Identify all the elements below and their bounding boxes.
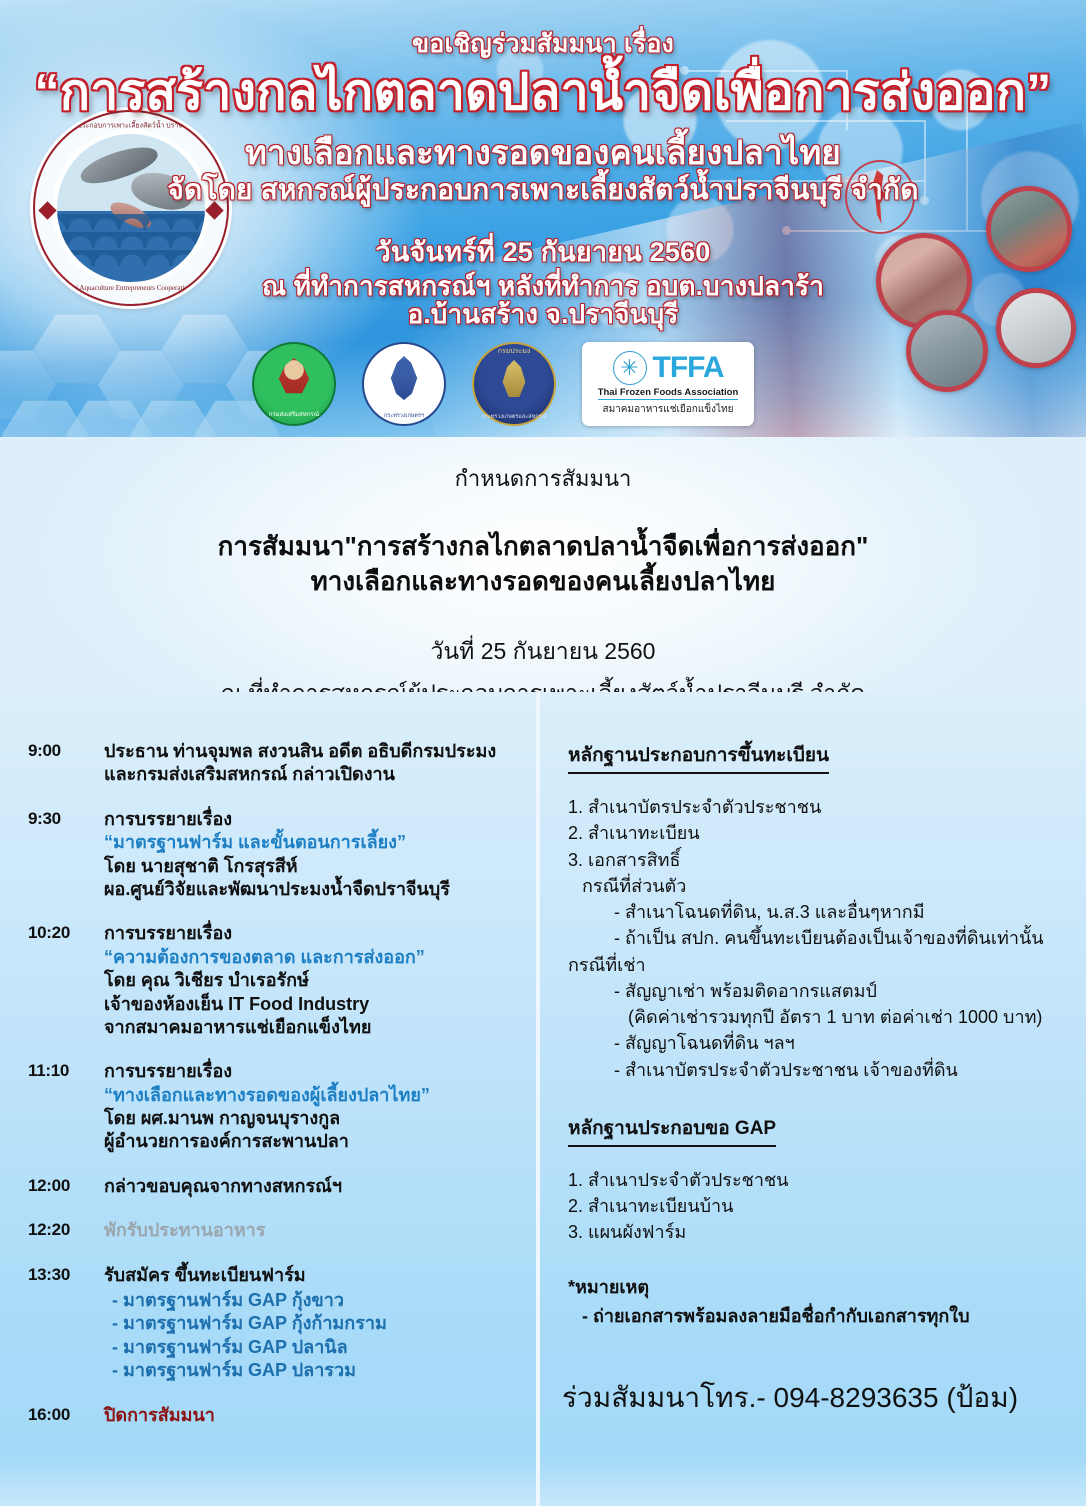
gap-item: 2. สำเนาทะเบียนบ้าน bbox=[568, 1193, 1068, 1219]
schedule-detail: การบรรยายเรื่อง“มาตรฐานฟาร์ม และขั้นตอนก… bbox=[104, 808, 522, 902]
schedule-line: และกรมส่งเสริมสหกรณ์ กล่าวเปิดงาน bbox=[104, 763, 522, 786]
gap-item: 1. สำเนาประจำตัวประชาชน bbox=[568, 1167, 1068, 1193]
partner-logos-row: กรมส่งเสริมสหกรณ์ กระทรวงเกษตรฯ กรมประมง… bbox=[252, 336, 872, 432]
poster-content: 9:00ประธาน ท่านจุมพล สงวนสิน อดีต อธิบดี… bbox=[0, 692, 1086, 1506]
schedule-line: การบรรยายเรื่อง bbox=[104, 808, 522, 831]
schedule-line: โดย นายสุชาติ โกรสุรสีห์ bbox=[104, 855, 522, 878]
note-title: *หมายเหตุ bbox=[568, 1272, 1068, 1301]
schedule-detail: ประธาน ท่านจุมพล สงวนสิน อดีต อธิบดีกรมป… bbox=[104, 740, 522, 787]
ministry-logo-caption: กระทรวงเกษตรฯ bbox=[364, 413, 444, 419]
snowflake-icon bbox=[613, 351, 647, 385]
schedule-line: รับสมัคร ขึ้นทะเบียนฟาร์ม bbox=[104, 1264, 522, 1287]
registration-item: กรณีที่ส่วนตัว bbox=[568, 873, 1068, 899]
ministry-agriculture-logo: กระทรวงเกษตรฯ bbox=[362, 342, 446, 426]
department-of-fisheries-logo: กรมประมง กระทรวงเกษตรและสหกรณ์ bbox=[472, 342, 556, 426]
schedule-time: 16:00 bbox=[28, 1404, 104, 1427]
schedule-row: 12:00กล่าวขอบคุณจากทางสหกรณ์ฯ bbox=[28, 1175, 522, 1198]
schedule-time: 11:10 bbox=[28, 1060, 104, 1154]
tffa-english-name: Thai Frozen Foods Association bbox=[598, 387, 739, 400]
banner-location-2: อ.บ้านสร้าง จ.ปราจีนบุรี bbox=[0, 294, 1086, 335]
gap-item: 3. แผนผังฟาร์ม bbox=[568, 1219, 1068, 1245]
schedule-row: 9:30การบรรยายเรื่อง“มาตรฐานฟาร์ม และขั้น… bbox=[28, 808, 522, 902]
contact-phone: ร่วมสัมมนาโทร.- 094-8293635 (ป้อม) bbox=[562, 1376, 1072, 1420]
schedule-sub-item: - มาตรฐานฟาร์ม GAP ปลารวม bbox=[104, 1359, 522, 1382]
agenda-date: วันที่ 25 กันยายน 2560 bbox=[0, 634, 1086, 670]
schedule-time: 9:30 bbox=[28, 808, 104, 902]
schedule-column: 9:00ประธาน ท่านจุมพล สงวนสิน อดีต อธิบดี… bbox=[0, 692, 536, 1506]
schedule-line: พักรับประทานอาหาร bbox=[104, 1219, 522, 1242]
registration-item: 3. เอกสารสิทธิ์ bbox=[568, 847, 1068, 873]
schedule-line: “มาตรฐานฟาร์ม และขั้นตอนการเลี้ยง” bbox=[104, 831, 522, 854]
schedule-time: 12:20 bbox=[28, 1219, 104, 1242]
schedule-time: 12:00 bbox=[28, 1175, 104, 1198]
schedule-line: เจ้าของห้องเย็น IT Food Industry bbox=[104, 993, 522, 1016]
coop-logo-caption: กรมส่งเสริมสหกรณ์ bbox=[254, 412, 334, 419]
schedule-sub-item: - มาตรฐานฟาร์ม GAP ปลานิล bbox=[104, 1336, 522, 1359]
tffa-logo: TFFA Thai Frozen Foods Association สมาคม… bbox=[582, 342, 754, 426]
registration-item: - ถ้าเป็น สปก. คนขึ้นทะเบียนต้องเป็นเจ้า… bbox=[568, 925, 1068, 951]
schedule-detail: กล่าวขอบคุณจากทางสหกรณ์ฯ bbox=[104, 1175, 522, 1198]
schedule-time: 9:00 bbox=[28, 740, 104, 787]
schedule-line: การบรรยายเรื่อง bbox=[104, 1060, 522, 1083]
tffa-acronym: TFFA bbox=[653, 353, 724, 383]
schedule-line: ประธาน ท่านจุมพล สงวนสิน อดีต อธิบดีกรมป… bbox=[104, 740, 522, 763]
schedule-row: 16:00ปิดการสัมมนา bbox=[28, 1404, 522, 1427]
schedule-sub-item: - มาตรฐานฟาร์ม GAP กุ้งขาว bbox=[104, 1289, 522, 1312]
banner-organizer: จัดโดย สหกรณ์ผู้ประกอบการเพาะเลี้ยงสัตว์… bbox=[0, 168, 1086, 212]
schedule-row: 12:20พักรับประทานอาหาร bbox=[28, 1219, 522, 1242]
schedule-detail: พักรับประทานอาหาร bbox=[104, 1219, 522, 1242]
schedule-line: ปิดการสัมมนา bbox=[104, 1404, 522, 1427]
schedule-line: ผอ.ศูนย์วิจัยและพัฒนาประมงน้ำจืดปราจีนบุ… bbox=[104, 878, 522, 901]
agenda-label: กำหนดการสัมมนา bbox=[0, 437, 1086, 496]
schedule-line: โดย ผศ.มานพ กาญจนบุรางกูล bbox=[104, 1107, 522, 1130]
agenda-title-line2: ทางเลือกและทางรอดของคนเลี้ยงปลาไทย bbox=[0, 564, 1086, 599]
registration-item: 1. สำเนาบัตรประจำตัวประชาชน bbox=[568, 794, 1068, 820]
schedule-line: การบรรยายเรื่อง bbox=[104, 922, 522, 945]
note-line: - ถ่ายเอกสารพร้อมลงลายมือชื่อกำกับเอกสาร… bbox=[568, 1301, 1068, 1330]
schedule-row: 10:20การบรรยายเรื่อง“ความต้องการของตลาด … bbox=[28, 922, 522, 1039]
registration-item: - สำเนาโฉนดที่ดิน, น.ส.3 และอื่นๆหากมี bbox=[568, 899, 1068, 925]
agenda-header-section: กำหนดการสัมมนา การสัมมนา"การสร้างกลไกตลา… bbox=[0, 437, 1086, 692]
schedule-sub-item: - มาตรฐานฟาร์ม GAP กุ้งก้ามกราม bbox=[104, 1312, 522, 1335]
tffa-thai-name: สมาคมอาหารแช่เยือกแข็งไทย bbox=[602, 402, 733, 417]
banner-invite-text: ขอเชิญร่วมสัมมนา เรื่อง bbox=[0, 24, 1086, 64]
cooperative-promotion-department-logo: กรมส่งเสริมสหกรณ์ bbox=[252, 342, 336, 426]
registration-items-list: 1. สำเนาบัตรประจำตัวประชาชน2. สำเนาทะเบี… bbox=[568, 794, 1068, 1083]
registration-item: (คิดค่าเช่ารวมทุกปี อัตรา 1 บาท ต่อค่าเช… bbox=[568, 1004, 1068, 1030]
schedule-line: “ทางเลือกและทางรอดของผู้เลี้ยงปลาไทย” bbox=[104, 1084, 522, 1107]
schedule-detail: การบรรยายเรื่อง“ความต้องการของตลาด และกา… bbox=[104, 922, 522, 1039]
schedule-line: กล่าวขอบคุณจากทางสหกรณ์ฯ bbox=[104, 1175, 522, 1198]
schedule-row: 13:30รับสมัคร ขึ้นทะเบียนฟาร์ม- มาตรฐานฟ… bbox=[28, 1264, 522, 1383]
schedule-line: จากสมาคมอาหารแช่เยือกแข็งไทย bbox=[104, 1016, 522, 1039]
registration-item: - สัญญาโฉนดที่ดิน ฯลฯ bbox=[568, 1030, 1068, 1056]
schedule-row: 9:00ประธาน ท่านจุมพล สงวนสิน อดีต อธิบดี… bbox=[28, 740, 522, 787]
gap-items-list: 1. สำเนาประจำตัวประชาชน2. สำเนาทะเบียนบ้… bbox=[568, 1167, 1068, 1246]
schedule-time: 13:30 bbox=[28, 1264, 104, 1383]
banner-title: “การสร้างกลไกตลาดปลาน้ำจืดเพื่อการส่งออก… bbox=[0, 66, 1086, 119]
agenda-title-line1: การสัมมนา"การสร้างกลไกตลาดปลาน้ำจืดเพื่อ… bbox=[0, 529, 1086, 564]
schedule-time: 10:20 bbox=[28, 922, 104, 1039]
gap-heading: หลักฐานประกอบขอ GAP bbox=[568, 1113, 776, 1147]
registration-item: - สัญญาเช่า พร้อมติดอากรแสตมป์ bbox=[568, 978, 1068, 1004]
requirements-column: หลักฐานประกอบการขึ้นทะเบียน 1. สำเนาบัตร… bbox=[536, 692, 1086, 1506]
fisheries-logo-caption: กรมประมง bbox=[474, 348, 554, 356]
schedule-line: ผู้อำนวยการองค์การสะพานปลา bbox=[104, 1130, 522, 1153]
registration-item: 2. สำเนาทะเบียน bbox=[568, 820, 1068, 846]
registration-item: - สำเนาบัตรประจำตัวประชาชน เจ้าของที่ดิน bbox=[568, 1057, 1068, 1083]
registration-item: กรณีที่เช่า bbox=[568, 952, 1068, 978]
schedule-detail: การบรรยายเรื่อง“ทางเลือกและทางรอดของผู้เ… bbox=[104, 1060, 522, 1154]
fisheries-logo-caption2: กระทรวงเกษตรและสหกรณ์ bbox=[474, 414, 554, 420]
schedule-line: โดย คุณ วิเชียร บำเรอรักษ์ bbox=[104, 969, 522, 992]
schedule-line: “ความต้องการของตลาด และการส่งออก” bbox=[104, 946, 522, 969]
gap-standard-list: - มาตรฐานฟาร์ม GAP กุ้งขาว- มาตรฐานฟาร์ม… bbox=[104, 1289, 522, 1383]
schedule-detail: รับสมัคร ขึ้นทะเบียนฟาร์ม- มาตรฐานฟาร์ม … bbox=[104, 1264, 522, 1383]
schedule-row: 11:10การบรรยายเรื่อง“ทางเลือกและทางรอดขอ… bbox=[28, 1060, 522, 1154]
poster-banner: สหกรณ์ ผู้ประกอบการเพาะเลี้ยงสัตว์น้ำ ปร… bbox=[0, 0, 1086, 437]
schedule-detail: ปิดการสัมมนา bbox=[104, 1404, 522, 1427]
registration-heading: หลักฐานประกอบการขึ้นทะเบียน bbox=[568, 740, 829, 774]
